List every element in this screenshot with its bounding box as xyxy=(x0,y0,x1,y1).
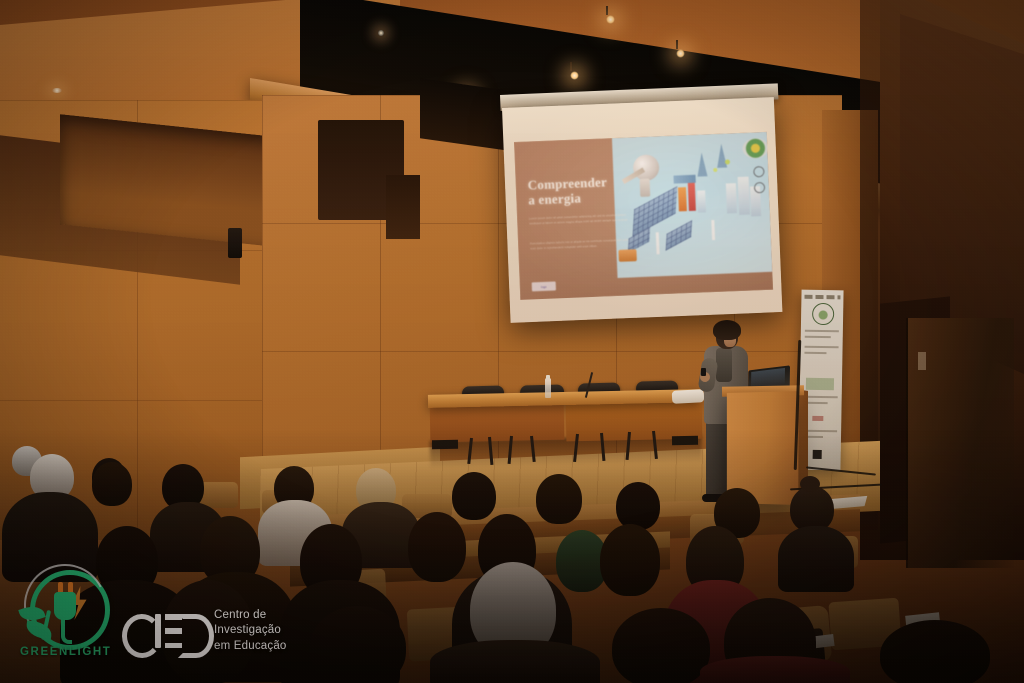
audience-head xyxy=(310,606,406,683)
cied-line-1: Centro de xyxy=(214,608,287,623)
speaker-scarf xyxy=(716,348,732,382)
ceiling-spotlight xyxy=(570,62,579,80)
cied-wordmark: Centro de Investigação em Educação xyxy=(214,608,287,654)
audience-body-red xyxy=(700,656,850,683)
wall-speaker-box xyxy=(228,228,242,258)
audience-head xyxy=(600,524,660,596)
ceiling-spotlight xyxy=(606,6,615,24)
white-folded-item xyxy=(672,389,705,404)
cied-logo: Centro de Investigação em Educação xyxy=(122,602,322,660)
illustration-dot xyxy=(725,159,730,164)
audience-body xyxy=(430,640,600,683)
illustration-icon-badge xyxy=(754,182,765,193)
illustration-transmission-tower xyxy=(697,152,708,176)
audience-head xyxy=(616,482,660,530)
recessed-downlight xyxy=(52,88,62,93)
illustration-solar-panel-small xyxy=(666,220,692,251)
speaker-hair xyxy=(713,320,741,340)
cied-mark-icon xyxy=(122,614,204,648)
greenlight-wordmark: GREENLIGHT xyxy=(20,646,108,658)
bottle-cap xyxy=(546,375,550,379)
presentation-clicker[interactable] xyxy=(701,368,706,376)
illustration-icon-badge xyxy=(753,166,764,177)
projected-slide: Compreender a energia Lorem ipsum dolor … xyxy=(514,132,773,300)
cied-letter-d-icon xyxy=(178,614,214,658)
water-bottle xyxy=(545,378,551,398)
recessed-downlight xyxy=(378,30,384,36)
illustration-building xyxy=(697,190,706,212)
illustration-globe-stand xyxy=(640,179,651,197)
illustration-factory-roof xyxy=(673,175,695,184)
audience-head xyxy=(408,512,466,582)
banner-heading-text xyxy=(804,295,840,300)
illustration-wind-turbine xyxy=(711,220,715,240)
audience-head xyxy=(452,472,496,520)
banner-accent-block xyxy=(812,416,823,421)
illustration-dot xyxy=(713,168,717,172)
ceiling-spotlight xyxy=(676,40,685,58)
banner-logo xyxy=(812,303,834,325)
audience-head xyxy=(880,620,990,683)
illustration-wind-turbine xyxy=(656,232,660,254)
illustration-target-dial xyxy=(742,138,769,159)
banner-highlight-block xyxy=(806,378,834,390)
slide-title: Compreender a energia xyxy=(527,173,638,208)
audience-head xyxy=(612,608,710,683)
cied-letter-i-icon xyxy=(155,614,161,648)
audience-hair-bun xyxy=(800,476,820,492)
cied-line-3: em Educação xyxy=(214,639,287,654)
photograph-auditorium-presentation: Compreender a energia Lorem ipsum dolor … xyxy=(0,0,1024,683)
illustration-building xyxy=(738,177,751,215)
audience-head xyxy=(536,474,582,524)
wall-vent-opening-small xyxy=(386,175,420,239)
greenlight-logo: GREENLIGHT xyxy=(14,566,110,666)
illustration-building xyxy=(726,183,737,213)
audience-head xyxy=(92,462,132,506)
audience-body xyxy=(778,526,854,592)
illustration-truck xyxy=(618,249,636,262)
plug-cord-icon xyxy=(61,616,72,644)
slide-illustration xyxy=(612,132,772,278)
cied-line-2: Investigação xyxy=(214,623,287,638)
slide-logo-badge: logo xyxy=(532,281,556,291)
illustration-building xyxy=(688,181,696,211)
illustration-building xyxy=(678,187,687,211)
